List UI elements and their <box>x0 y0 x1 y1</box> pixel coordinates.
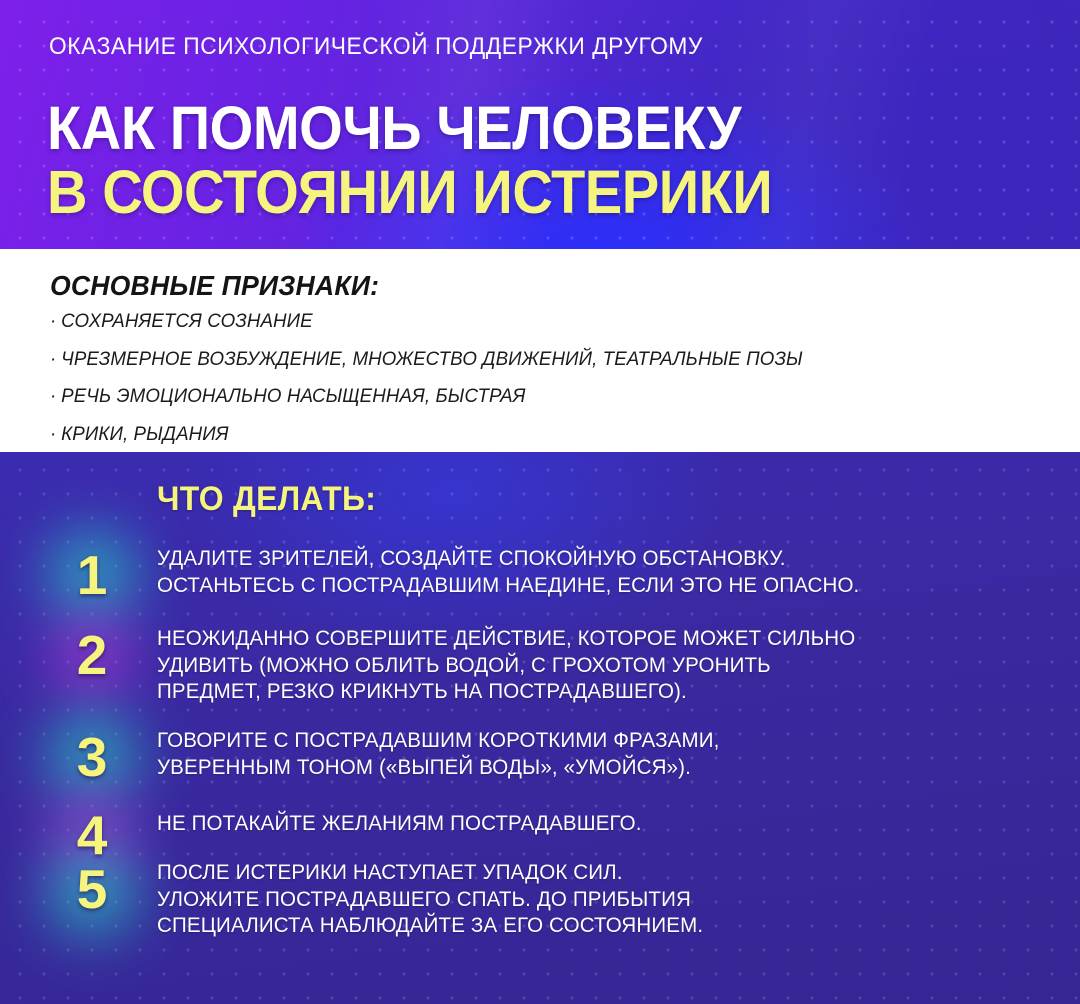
steps-section: ЧТО ДЕЛАТЬ: 1УДАЛИТЕ ЗРИТЕЛЕЙ, СОЗДАЙТЕ … <box>0 452 1080 1004</box>
title-line-1: КАК ПОМОЧЬ ЧЕЛОВЕКУ <box>47 96 772 160</box>
step-number: 3 <box>55 730 129 785</box>
sign-list-item: ·ЧРЕЗМЕРНОЕ ВОЗБУЖДЕНИЕ, МНОЖЕСТВО ДВИЖЕ… <box>50 349 1000 369</box>
sign-list-item-label: РЕЧЬ ЭМОЦИОНАЛЬНО НАСЫЩЕННАЯ, БЫСТРАЯ <box>61 385 525 407</box>
infographic-poster: ОКАЗАНИЕ ПСИХОЛОГИЧЕСКОЙ ПОДДЕРЖКИ ДРУГО… <box>0 0 1080 1004</box>
signs-panel-heading: ОСНОВНЫЕ ПРИЗНАКИ: <box>50 270 379 302</box>
step-text-line: ПОСЛЕ ИСТЕРИКИ НАСТУПАЕТ УПАДОК СИЛ. <box>157 859 1012 886</box>
step-text-line: УВЕРЕННЫМ ТОНОМ («ВЫПЕЙ ВОДЫ», «УМОЙСЯ»)… <box>157 754 1012 781</box>
step-text: ГОВОРИТЕ С ПОСТРАДАВШИМ КОРОТКИМИ ФРАЗАМ… <box>157 727 1012 780</box>
step-number: 5 <box>55 862 129 917</box>
bullet-icon: · <box>50 423 56 445</box>
sign-list-item-label: ЧРЕЗМЕРНОЕ ВОЗБУЖДЕНИЕ, МНОЖЕСТВО ДВИЖЕН… <box>61 348 803 370</box>
step-text: УДАЛИТЕ ЗРИТЕЛЕЙ, СОЗДАЙТЕ СПОКОЙНУЮ ОБС… <box>157 545 1012 598</box>
step-number: 4 <box>55 808 129 863</box>
step-text: НЕОЖИДАННО СОВЕРШИТЕ ДЕЙСТВИЕ, КОТОРОЕ М… <box>157 625 1012 705</box>
signs-panel: ОСНОВНЫЕ ПРИЗНАКИ: ·СОХРАНЯЕТСЯ СОЗНАНИЕ… <box>0 249 1080 452</box>
step-text-line: НЕОЖИДАННО СОВЕРШИТЕ ДЕЙСТВИЕ, КОТОРОЕ М… <box>157 625 1012 652</box>
step-text-line: УДИВИТЬ (МОЖНО ОБЛИТЬ ВОДОЙ, С ГРОХОТОМ … <box>157 652 1012 679</box>
signs-list: ·СОХРАНЯЕТСЯ СОЗНАНИЕ·ЧРЕЗМЕРНОЕ ВОЗБУЖД… <box>50 311 1040 461</box>
step-text-line: СПЕЦИАЛИСТА НАБЛЮДАЙТЕ ЗА ЕГО СОСТОЯНИЕМ… <box>157 912 1012 939</box>
step-text-line: УДАЛИТЕ ЗРИТЕЛЕЙ, СОЗДАЙТЕ СПОКОЙНУЮ ОБС… <box>157 545 1012 572</box>
sign-list-item-label: КРИКИ, РЫДАНИЯ <box>61 423 229 445</box>
step-text-line: ОСТАНЬТЕСЬ С ПОСТРАДАВШИМ НАЕДИНЕ, ЕСЛИ … <box>157 572 1012 599</box>
page-title: КАК ПОМОЧЬ ЧЕЛОВЕКУ В СОСТОЯНИИ ИСТЕРИКИ <box>47 96 835 224</box>
step-text-line: ГОВОРИТЕ С ПОСТРАДАВШИМ КОРОТКИМИ ФРАЗАМ… <box>157 727 1012 754</box>
bullet-icon: · <box>50 385 56 407</box>
steps-list: 1УДАЛИТЕ ЗРИТЕЛЕЙ, СОЗДАЙТЕ СПОКОЙНУЮ ОБ… <box>0 452 1080 1004</box>
step-number: 2 <box>55 628 129 683</box>
step-text: ПОСЛЕ ИСТЕРИКИ НАСТУПАЕТ УПАДОК СИЛ.УЛОЖ… <box>157 859 1012 939</box>
step-text-line: ПРЕДМЕТ, РЕЗКО КРИКНУТЬ НА ПОСТРАДАВШЕГО… <box>157 678 1012 705</box>
bullet-icon: · <box>50 310 56 332</box>
header-banner: ОКАЗАНИЕ ПСИХОЛОГИЧЕСКОЙ ПОДДЕРЖКИ ДРУГО… <box>0 0 1080 249</box>
title-line-2: В СОСТОЯНИИ ИСТЕРИКИ <box>47 160 772 224</box>
bullet-icon: · <box>50 348 56 370</box>
sign-list-item: ·КРИКИ, РЫДАНИЯ <box>50 424 1000 444</box>
step-text-line: УЛОЖИТЕ ПОСТРАДАВШЕГО СПАТЬ. ДО ПРИБЫТИЯ <box>157 886 1012 913</box>
sign-list-item: ·РЕЧЬ ЭМОЦИОНАЛЬНО НАСЫЩЕННАЯ, БЫСТРАЯ <box>50 386 1000 406</box>
kicker-text: ОКАЗАНИЕ ПСИХОЛОГИЧЕСКОЙ ПОДДЕРЖКИ ДРУГО… <box>49 33 703 61</box>
step-number: 1 <box>55 548 129 603</box>
step-text: НЕ ПОТАКАЙТЕ ЖЕЛАНИЯМ ПОСТРАДАВШЕГО. <box>157 810 1012 837</box>
step-text-line: НЕ ПОТАКАЙТЕ ЖЕЛАНИЯМ ПОСТРАДАВШЕГО. <box>157 810 1012 837</box>
sign-list-item-label: СОХРАНЯЕТСЯ СОЗНАНИЕ <box>61 310 313 332</box>
sign-list-item: ·СОХРАНЯЕТСЯ СОЗНАНИЕ <box>50 311 1000 331</box>
